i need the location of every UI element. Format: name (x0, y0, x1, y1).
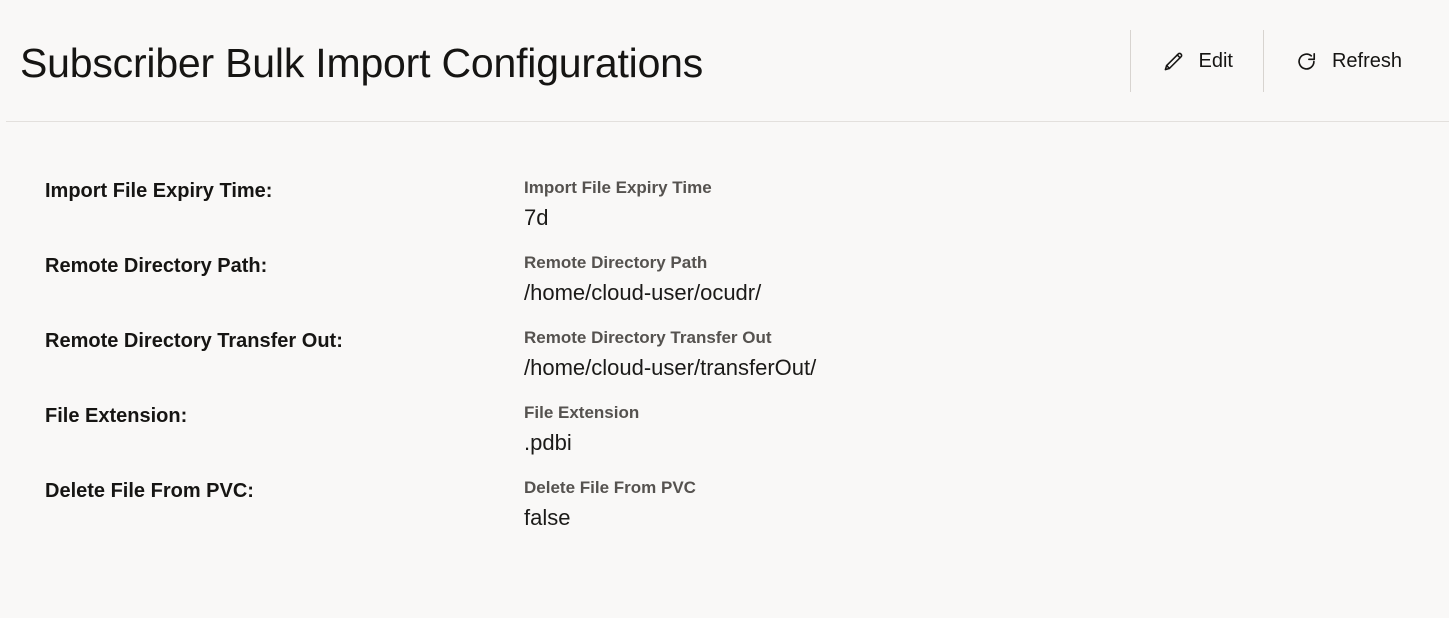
config-field-label: File Extension: (45, 403, 187, 429)
configuration-field-list: Import File Expiry Time:Import File Expi… (0, 122, 1449, 553)
config-field-row: Remote Directory Path:Remote Directory P… (0, 253, 1449, 328)
page-content: Import File Expiry Time:Import File Expi… (0, 122, 1449, 618)
config-field-value: 7d (524, 202, 712, 233)
config-field-row: Import File Expiry Time:Import File Expi… (0, 178, 1449, 253)
config-field-value: false (524, 502, 696, 533)
config-field-caption: Import File Expiry Time (524, 175, 712, 201)
config-field-value: /home/cloud-user/ocudr/ (524, 277, 761, 308)
edit-button[interactable]: Edit (1131, 30, 1263, 92)
config-field-row: Remote Directory Transfer Out:Remote Dir… (0, 328, 1449, 403)
pencil-icon (1161, 49, 1186, 74)
refresh-icon (1294, 49, 1319, 74)
edit-button-label: Edit (1199, 49, 1233, 74)
config-field-value-group: Remote Directory Transfer Out/home/cloud… (524, 325, 816, 383)
app-page: Subscriber Bulk Import Configurations Ed… (0, 0, 1449, 618)
config-field-row: Delete File From PVC:Delete File From PV… (0, 478, 1449, 553)
config-field-label: Remote Directory Path: (45, 253, 267, 279)
refresh-button-label: Refresh (1332, 49, 1402, 74)
config-field-caption: Remote Directory Path (524, 250, 761, 276)
config-field-value: /home/cloud-user/transferOut/ (524, 352, 816, 383)
config-field-label: Import File Expiry Time: (45, 178, 272, 204)
refresh-button[interactable]: Refresh (1264, 30, 1432, 92)
config-field-label: Remote Directory Transfer Out: (45, 328, 343, 354)
config-field-row: File Extension:File Extension.pdbi (0, 403, 1449, 478)
config-field-caption: Remote Directory Transfer Out (524, 325, 816, 351)
page-header: Subscriber Bulk Import Configurations Ed… (0, 0, 1449, 122)
config-field-label: Delete File From PVC: (45, 478, 254, 504)
page-title: Subscriber Bulk Import Configurations (20, 39, 703, 87)
config-field-value: .pdbi (524, 427, 639, 458)
config-field-value-group: File Extension.pdbi (524, 400, 639, 458)
config-field-value-group: Import File Expiry Time7d (524, 175, 712, 233)
header-actions-toolbar: Edit Refresh (1130, 26, 1433, 96)
config-field-caption: File Extension (524, 400, 639, 426)
config-field-value-group: Remote Directory Path/home/cloud-user/oc… (524, 250, 761, 308)
config-field-caption: Delete File From PVC (524, 475, 696, 501)
config-field-value-group: Delete File From PVCfalse (524, 475, 696, 533)
